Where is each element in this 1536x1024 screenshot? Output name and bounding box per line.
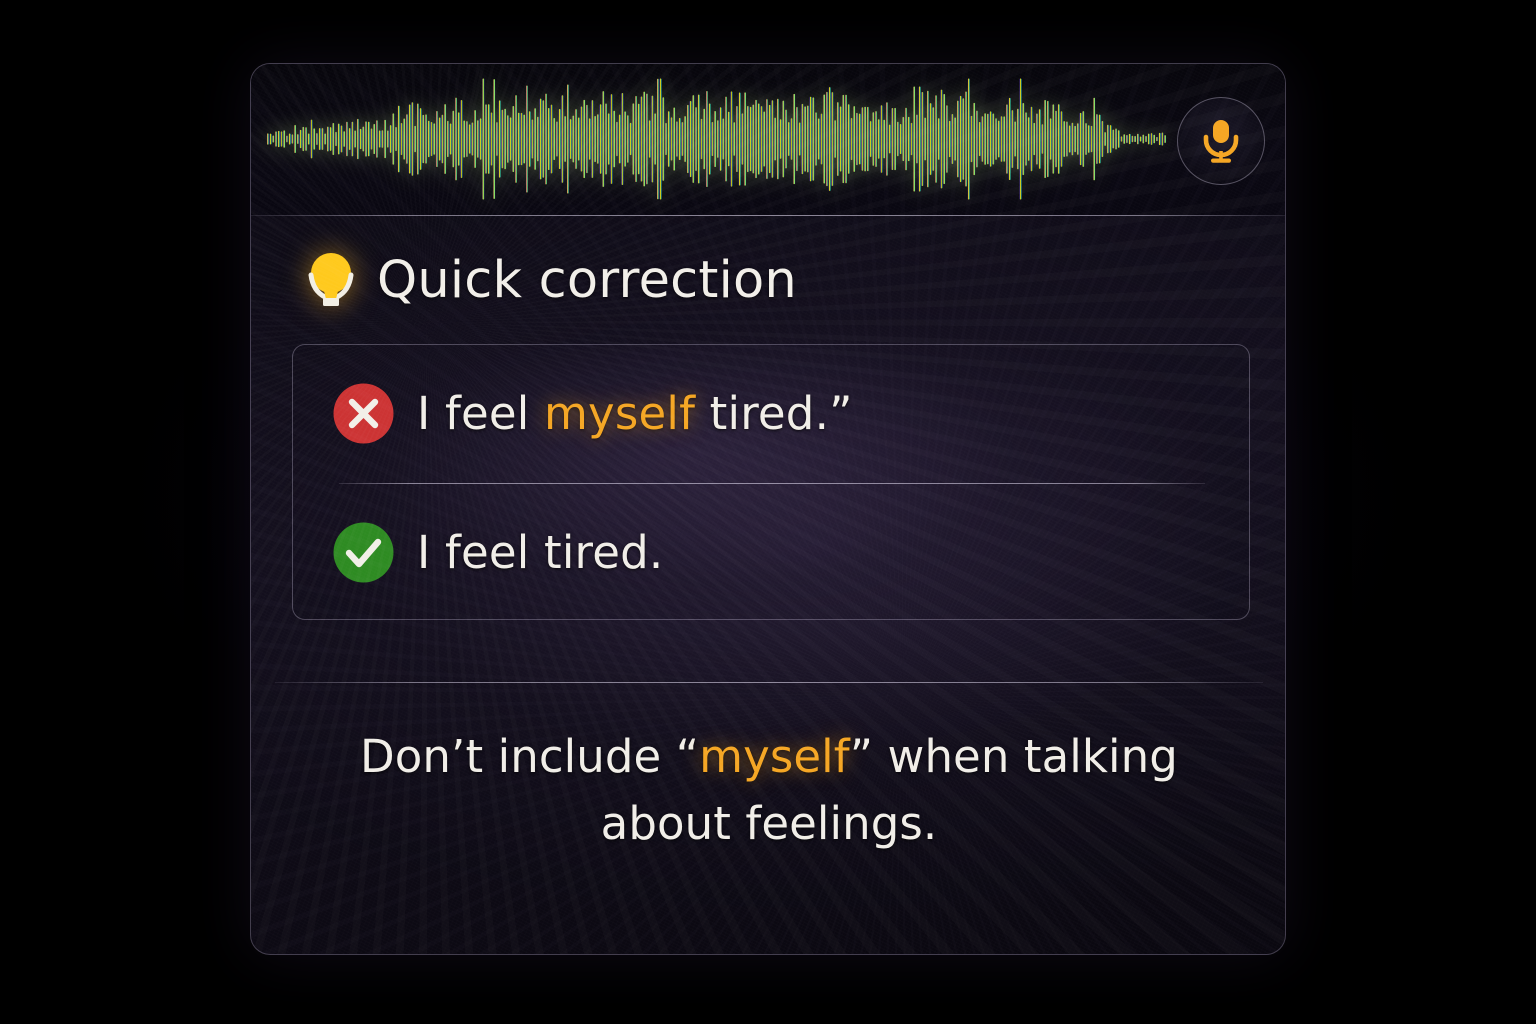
wrong-sentence-suffix: tired.” bbox=[695, 387, 852, 440]
mic-button[interactable] bbox=[1177, 97, 1265, 185]
lightbulb-icon bbox=[303, 249, 359, 311]
correction-row-wrong[interactable]: I feel myself tired.” bbox=[293, 345, 1250, 482]
title-row: Quick correction bbox=[303, 249, 797, 311]
wrong-sentence-prefix: I feel bbox=[417, 387, 544, 440]
explanation-prefix: Don’t include “ bbox=[360, 730, 699, 783]
screen-background: Quick correction I feel myself tired.” I… bbox=[0, 0, 1536, 1024]
explanation-divider bbox=[275, 682, 1263, 683]
right-sentence: I feel tired. bbox=[417, 526, 663, 579]
wrong-sentence: I feel myself tired.” bbox=[417, 387, 853, 440]
explanation-highlight: myself bbox=[699, 730, 850, 783]
correction-row-right[interactable]: I feel tired. bbox=[293, 484, 1250, 620]
waveform-divider bbox=[251, 215, 1286, 216]
wrong-sentence-highlight: myself bbox=[544, 387, 695, 440]
error-x-icon bbox=[332, 382, 395, 445]
correction-card: I feel myself tired.” I feel tired. bbox=[292, 344, 1250, 620]
explanation-text: Don’t include “myself” when talking abou… bbox=[343, 724, 1195, 857]
success-check-icon bbox=[332, 521, 395, 584]
quick-correction-panel: Quick correction I feel myself tired.” I… bbox=[250, 63, 1286, 955]
page-title: Quick correction bbox=[377, 251, 797, 310]
waveform-section bbox=[251, 64, 1286, 215]
waveform-icon[interactable] bbox=[267, 76, 1167, 202]
microphone-icon bbox=[1200, 118, 1242, 164]
